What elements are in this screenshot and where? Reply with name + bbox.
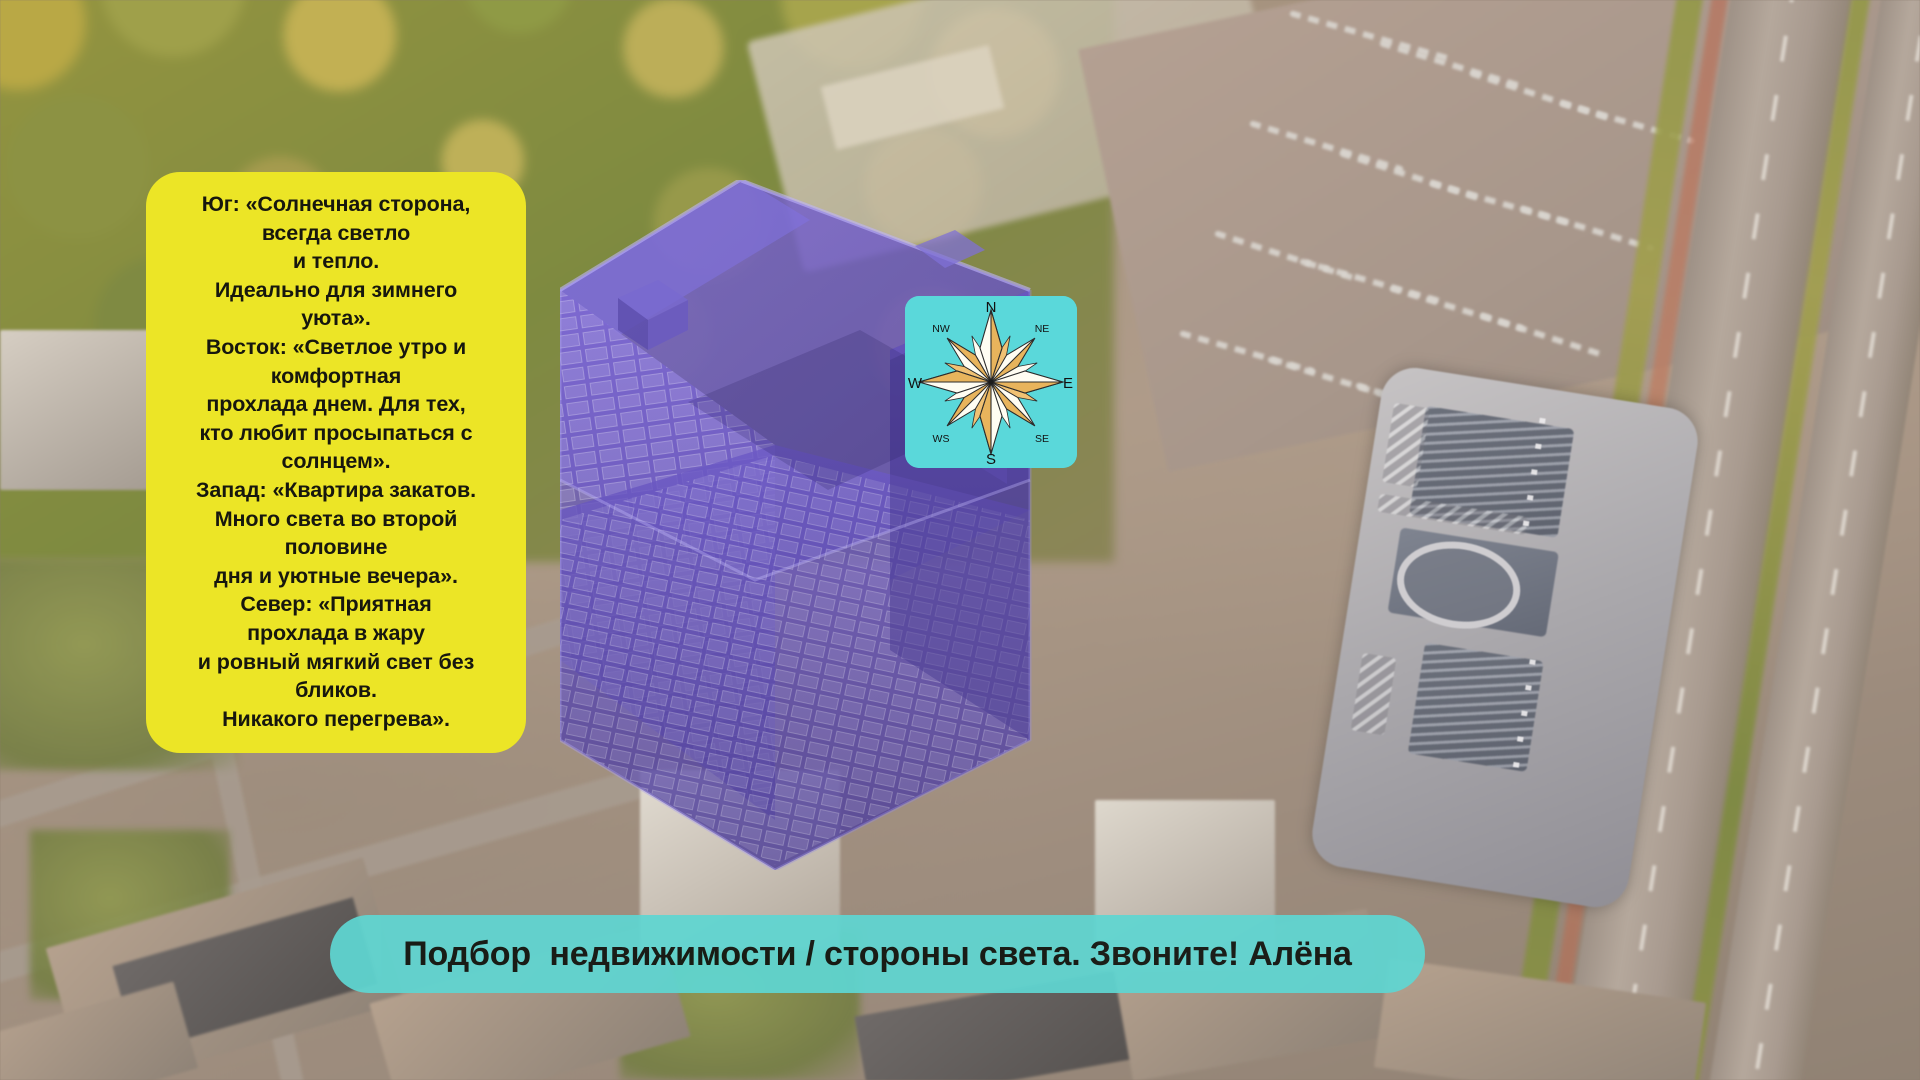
info-card-line: Идеально для зимнего (160, 276, 512, 305)
compass-label-s: S (986, 451, 996, 468)
white-building-3 (0, 330, 170, 490)
info-card-line: половине (160, 533, 512, 562)
compass-label-n: N (986, 299, 997, 316)
poster-canvas: Юг: «Солнечная сторона,всегда светлои те… (0, 0, 1920, 1080)
orientation-info-card: Юг: «Солнечная сторона,всегда светлои те… (146, 172, 526, 753)
banner-text: Подбор недвижимости / стороны света. Зво… (403, 935, 1352, 974)
compass-label-w: W (908, 375, 923, 392)
info-card-line: Запад: «Квартира закатов. (160, 476, 512, 505)
info-card-line: Никакого перегрева». (160, 705, 512, 734)
compass-label-se: SE (1035, 433, 1049, 445)
info-card-line: и ровный мягкий свет без (160, 648, 512, 677)
info-card-line: бликов. (160, 676, 512, 705)
info-card-line: кто любит просыпаться с (160, 419, 512, 448)
compass-label-ws: WS (933, 433, 950, 445)
compass-label-e: E (1063, 375, 1073, 392)
info-card-line: Юг: «Солнечная сторона, (160, 190, 512, 219)
info-card-line: солнцем». (160, 447, 512, 476)
info-card-line: Север: «Приятная (160, 590, 512, 619)
info-card-line: дня и уютные вечера». (160, 562, 512, 591)
info-card-line: Восток: «Светлое утро и (160, 333, 512, 362)
info-card-line: уюта». (160, 304, 512, 333)
call-to-action-banner[interactable]: Подбор недвижимости / стороны света. Зво… (330, 915, 1425, 993)
info-card-line: прохлада днем. Для тех, (160, 390, 512, 419)
compass-label-nw: NW (932, 323, 950, 335)
info-card-line: всегда светло (160, 219, 512, 248)
info-card-lines: Юг: «Солнечная сторона,всегда светлои те… (160, 190, 512, 733)
info-card-line: прохлада в жару (160, 619, 512, 648)
compass-label-ne: NE (1035, 323, 1050, 335)
compass-rose: N S E W NW NE WS SE (905, 296, 1077, 468)
info-card-line: комфортная (160, 362, 512, 391)
info-card-line: Много света во второй (160, 505, 512, 534)
info-card-line: и тепло. (160, 247, 512, 276)
